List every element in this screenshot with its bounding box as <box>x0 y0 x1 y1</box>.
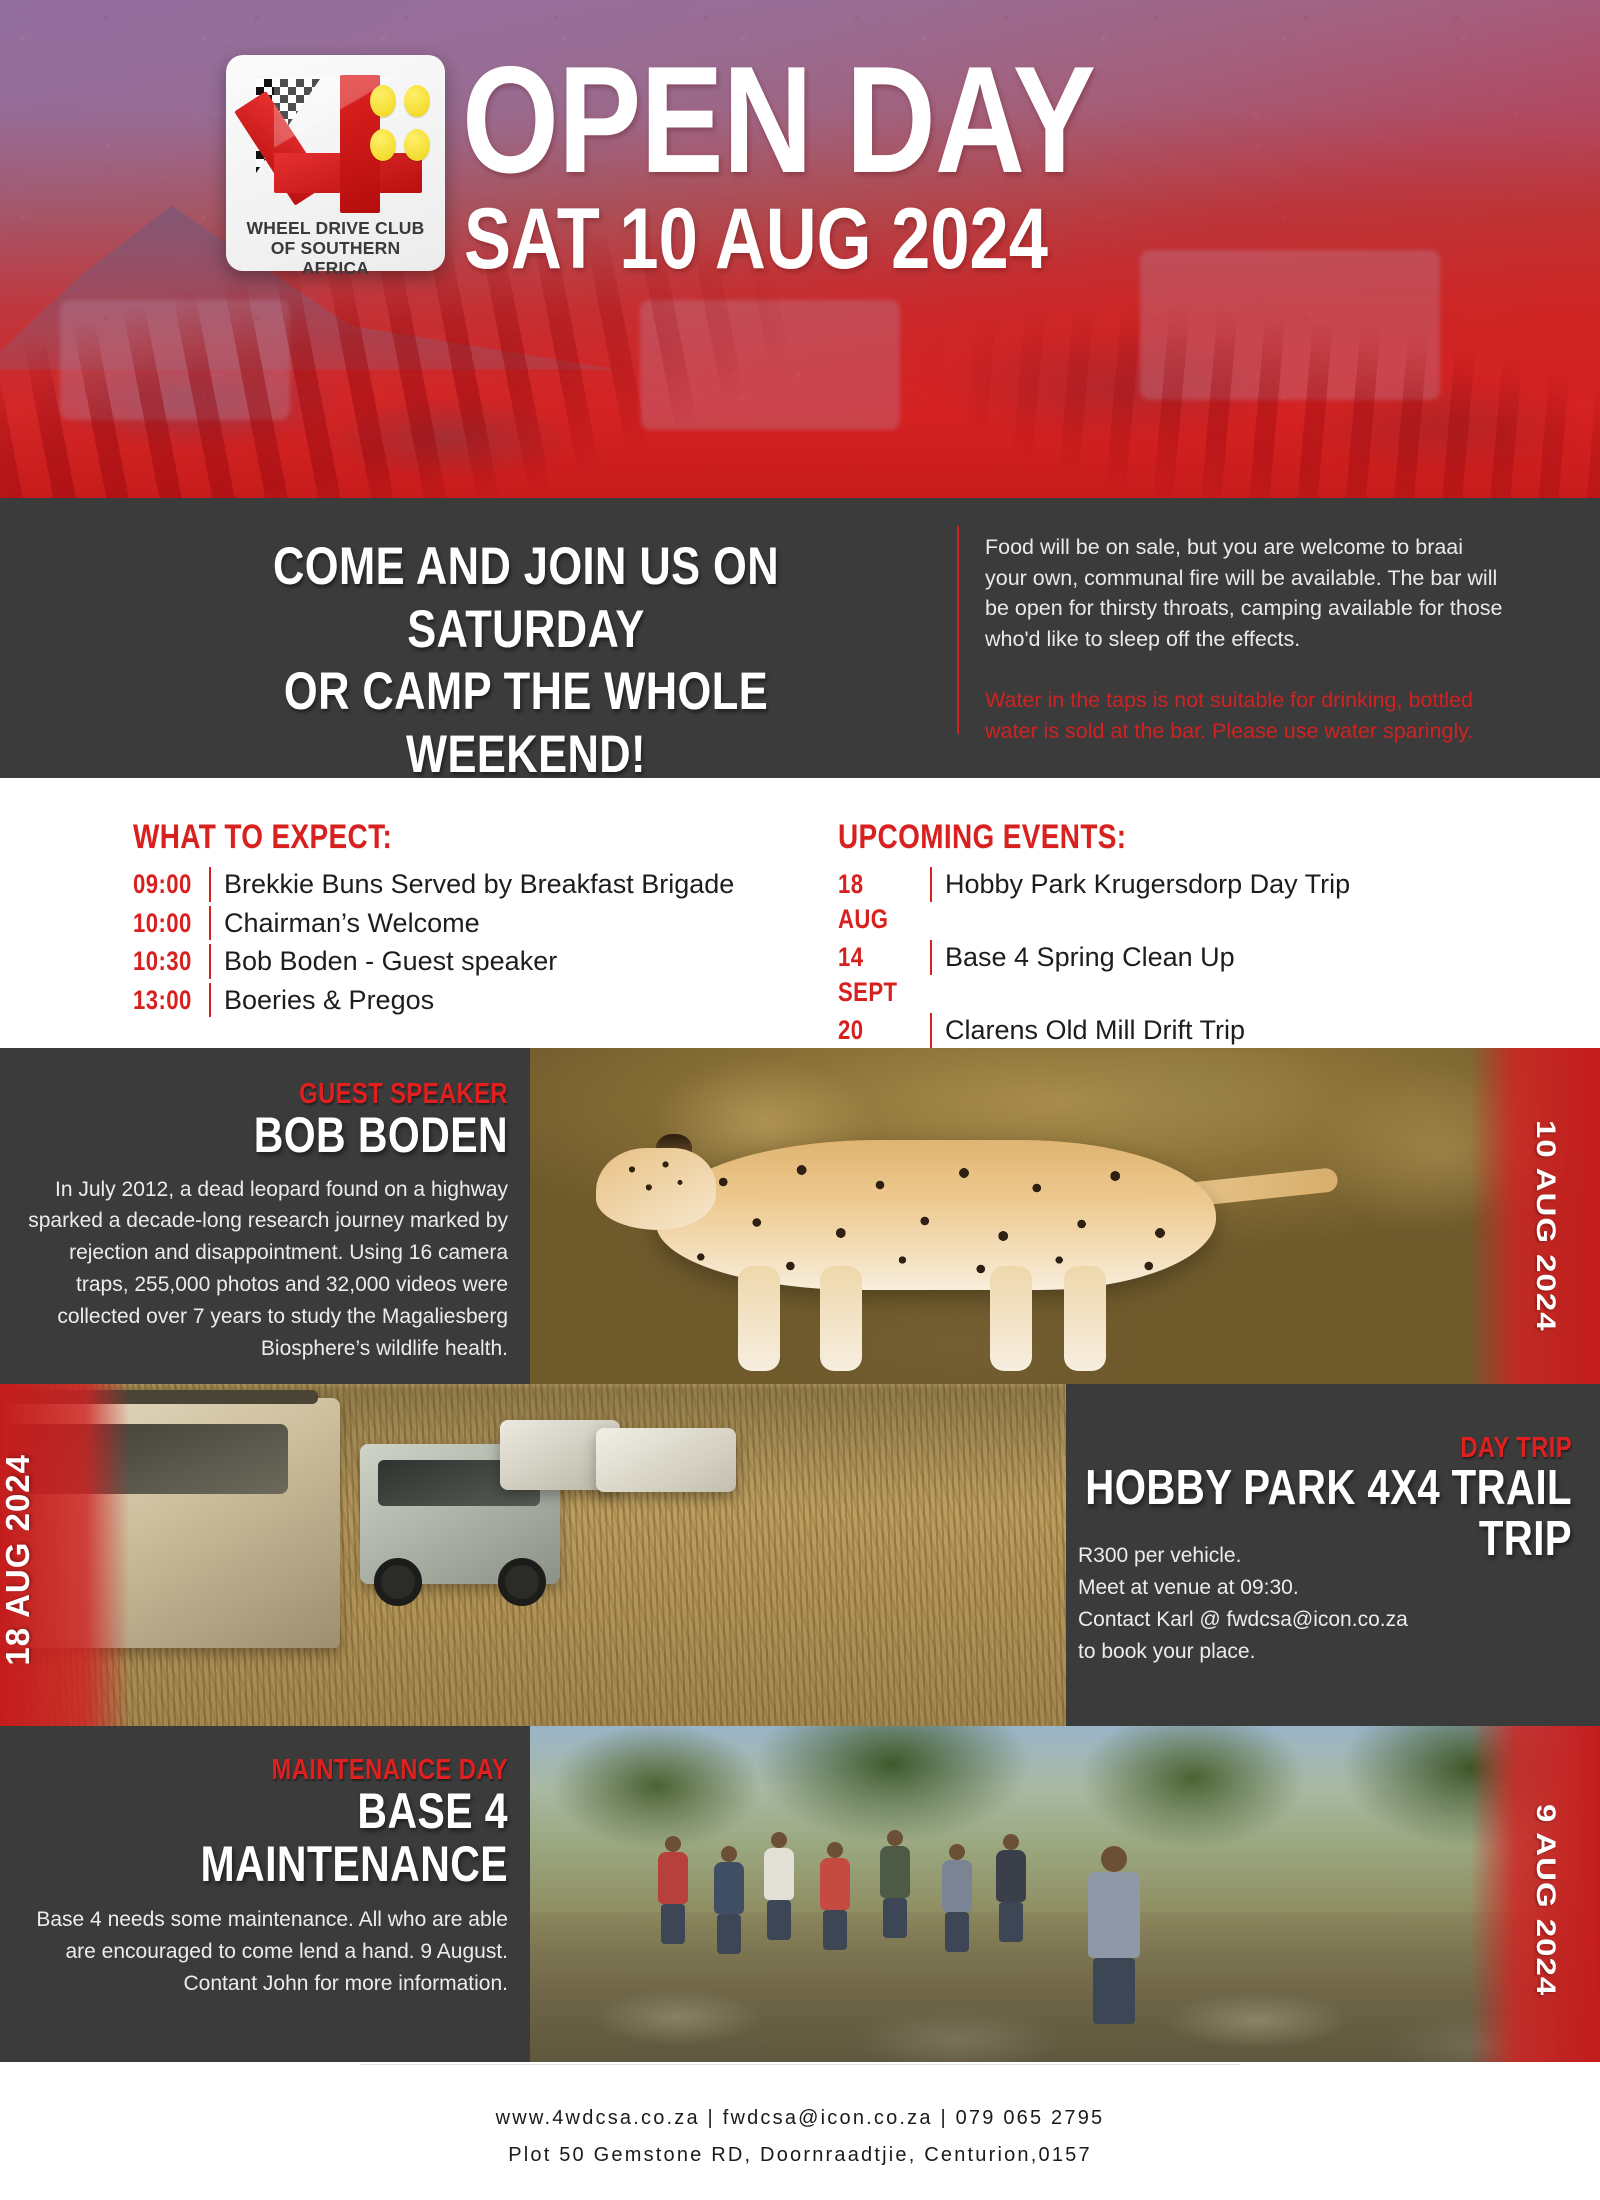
four-dots-icon <box>370 85 432 169</box>
footer-contact-line[interactable]: www.4wdcsa.co.za | fwdcsa@icon.co.za | 0… <box>0 2100 1600 2137</box>
schedule-time: 10:00 <box>133 906 195 941</box>
schedule-item: Boeries & Pregos <box>209 983 434 1018</box>
event-row: 18 AUG Hobby Park Krugersdorp Day Trip <box>838 867 1350 936</box>
hero-date: SAT 10 AUG 2024 <box>464 196 1048 282</box>
schedule-time: 13:00 <box>133 983 195 1018</box>
maintenance-title: BASE 4 MAINTENANCE <box>114 1785 508 1890</box>
feature-guest-speaker: GUEST SPEAKER BOB BODEN In July 2012, a … <box>0 1048 1600 1384</box>
schedule-section: WHAT TO EXPECT: 09:00 Brekkie Buns Serve… <box>0 778 1600 1048</box>
footer: www.4wdcsa.co.za | fwdcsa@icon.co.za | 0… <box>0 2062 1600 2200</box>
event-date: 14 SEPT <box>838 940 913 1009</box>
person-shape <box>820 1842 850 1950</box>
event-date: 18 AUG <box>838 867 913 936</box>
hobby-vertical-date: 18 AUG 2024 <box>1 1454 34 1666</box>
footer-divider <box>360 2064 1240 2065</box>
schedule-item: Chairman’s Welcome <box>209 906 480 941</box>
what-to-expect-column: WHAT TO EXPECT: 09:00 Brekkie Buns Serve… <box>133 820 734 1021</box>
schedule-row: 09:00 Brekkie Buns Served by Breakfast B… <box>133 867 734 902</box>
vehicle-shape <box>596 1428 736 1492</box>
band-note-food: Food will be on sale, but you are welcom… <box>985 532 1505 655</box>
schedule-row: 13:00 Boeries & Pregos <box>133 983 734 1018</box>
hobby-body: R300 per vehicle. Meet at venue at 09:30… <box>1078 1540 1578 1668</box>
feature-maintenance: MAINTENANCE DAY BASE 4 MAINTENANCE Base … <box>0 1726 1600 2062</box>
schedule-time: 10:30 <box>133 944 195 979</box>
band-headline-line-1: COME AND JOIN US ON SATURDAY <box>173 536 878 661</box>
person-shape <box>714 1846 744 1954</box>
speaker-kicker: GUEST SPEAKER <box>114 1080 508 1109</box>
logo-line-1: WHEEL DRIVE CLUB <box>238 219 433 239</box>
page-title: OPEN DAY <box>462 44 1095 196</box>
maintenance-photo <box>528 1726 1600 2062</box>
person-shape <box>1088 1846 1140 2024</box>
club-logo: WHEEL DRIVE CLUB OF SOUTHERN AFRICA <box>226 55 445 271</box>
hobby-kicker: DAY TRIP <box>982 1434 1572 1463</box>
person-shape <box>658 1836 688 1944</box>
footer-address-line: Plot 50 Gemstone RD, Doornraadtjie, Cent… <box>0 2137 1600 2174</box>
person-shape <box>996 1834 1026 1942</box>
maintenance-kicker: MAINTENANCE DAY <box>114 1756 508 1785</box>
band-right-column: Food will be on sale, but you are welcom… <box>985 532 1505 746</box>
person-shape <box>764 1832 794 1940</box>
schedule-row: 10:30 Bob Boden - Guest speaker <box>133 944 734 979</box>
event-item: Hobby Park Krugersdorp Day Trip <box>930 867 1350 902</box>
info-band: COME AND JOIN US ON SATURDAY OR CAMP THE… <box>0 498 1600 778</box>
event-item: Base 4 Spring Clean Up <box>930 940 1235 975</box>
speaker-photo <box>528 1048 1600 1384</box>
speaker-vertical-date: 10 AUG 2024 <box>1533 1120 1560 1332</box>
logo-mark-icon <box>238 75 434 213</box>
person-shape <box>880 1830 910 1938</box>
upcoming-events-column: UPCOMING EVENTS: 18 AUG Hobby Park Kruge… <box>838 820 1350 1086</box>
workday-photo-icon <box>528 1726 1600 2062</box>
event-item: Clarens Old Mill Drift Trip <box>930 1013 1245 1048</box>
what-to-expect-title: WHAT TO EXPECT: <box>133 820 626 854</box>
person-shape <box>942 1844 972 1952</box>
band-note-water: Water in the taps is not suitable for dr… <box>985 685 1505 746</box>
leopard-photo-icon <box>528 1048 1600 1384</box>
maintenance-body: Base 4 needs some maintenance. All who a… <box>28 1904 508 2000</box>
speaker-body: In July 2012, a dead leopard found on a … <box>28 1174 508 1365</box>
hero-banner: WHEEL DRIVE CLUB OF SOUTHERN AFRICA OPEN… <box>0 0 1600 498</box>
band-divider <box>957 526 959 734</box>
feature-hobby-park: DAY TRIP HOBBY PARK 4X4 TRAIL TRIP R300 … <box>0 1384 1600 1726</box>
schedule-item: Bob Boden - Guest speaker <box>209 944 557 979</box>
schedule-row: 10:00 Chairman’s Welcome <box>133 906 734 941</box>
logo-line-2: OF SOUTHERN AFRICA <box>238 239 433 279</box>
schedule-time: 09:00 <box>133 867 195 902</box>
schedule-item: Brekkie Buns Served by Breakfast Brigade <box>209 867 734 902</box>
event-row: 14 SEPT Base 4 Spring Clean Up <box>838 940 1350 1009</box>
band-headline-line-2: OR CAMP THE WHOLE WEEKEND! <box>173 661 878 786</box>
maintenance-vertical-date: 9 AUG 2024 <box>1533 1804 1560 1996</box>
logo-wordmark: WHEEL DRIVE CLUB OF SOUTHERN AFRICA <box>238 219 433 279</box>
upcoming-events-title: UPCOMING EVENTS: <box>838 820 1258 854</box>
speaker-title: BOB BODEN <box>114 1109 508 1162</box>
